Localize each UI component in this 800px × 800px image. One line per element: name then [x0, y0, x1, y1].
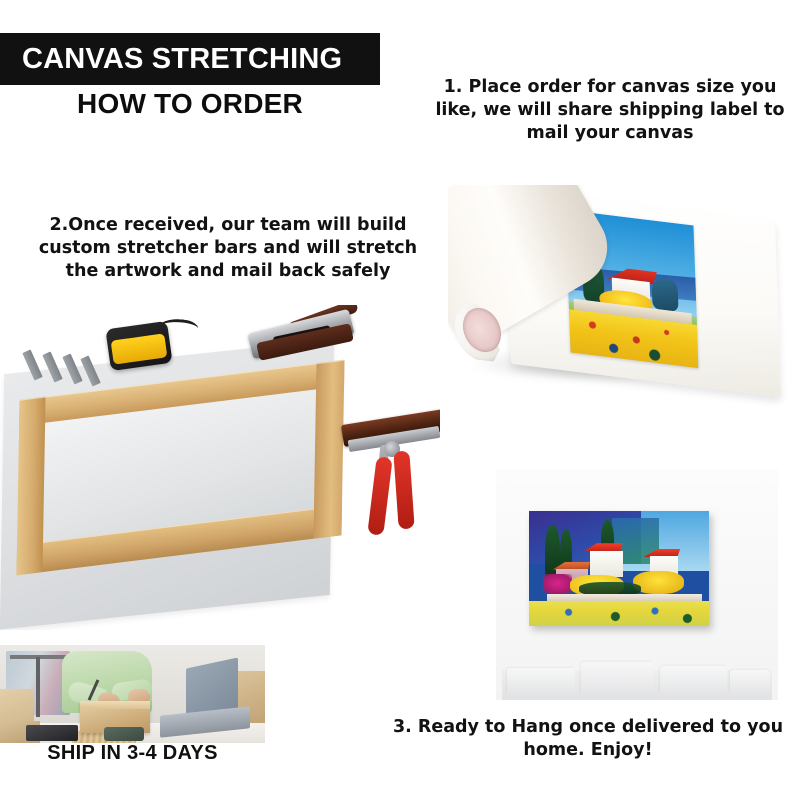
- step-3-text: 3. Ready to Hang once delivered to you h…: [386, 716, 790, 762]
- rack-bar: [10, 655, 70, 659]
- wedge-icon: [42, 351, 62, 382]
- rack-post: [36, 657, 40, 717]
- ship-days-caption: SHIP IN 3-4 DAYS: [0, 742, 265, 765]
- page-subtitle: HOW TO ORDER: [0, 88, 380, 120]
- hung-painting-white-house-1: [590, 551, 622, 576]
- sofa-cushion: [507, 668, 575, 694]
- step-2-text: 2.Once received, our team will build cus…: [38, 214, 418, 282]
- title-bar: CANVAS STRETCHING: [0, 33, 380, 85]
- sofa-cushion: [660, 666, 728, 694]
- hung-stretched-canvas: [529, 511, 709, 626]
- hung-painting-yellow-bush-2: [633, 571, 683, 594]
- infographic-page: CANVAS STRETCHING HOW TO ORDER 1. Place …: [0, 0, 800, 800]
- wedge-icon: [80, 355, 100, 386]
- cardboard-box-flap: [80, 701, 150, 709]
- hung-painting-field-flowers: [529, 601, 709, 626]
- stretcher-frame-photo: [0, 305, 440, 630]
- calculator-icon: [26, 725, 78, 741]
- sofa-cushion: [730, 670, 769, 694]
- hung-painting-magenta-bush: [543, 574, 572, 592]
- frame-bar-left: [16, 397, 45, 576]
- sofa-cushion: [581, 662, 654, 694]
- canvas-pliers-icon: [340, 415, 440, 555]
- pliers-handle-red-1: [367, 456, 392, 535]
- room-canvas-photo: [496, 469, 778, 700]
- rolled-canvas-photo: [448, 185, 793, 425]
- white-sofa: [496, 652, 778, 700]
- page-title: CANVAS STRETCHING: [22, 43, 342, 76]
- pliers-handle-red-2: [393, 451, 414, 530]
- staple-gun-icon: [243, 305, 368, 373]
- packing-photo: [0, 645, 265, 743]
- painting-tree-right: [652, 277, 679, 312]
- tape-measure-icon: [100, 317, 190, 373]
- smartphone-icon: [104, 727, 144, 741]
- step-1-text: 1. Place order for canvas size you like,…: [432, 76, 788, 144]
